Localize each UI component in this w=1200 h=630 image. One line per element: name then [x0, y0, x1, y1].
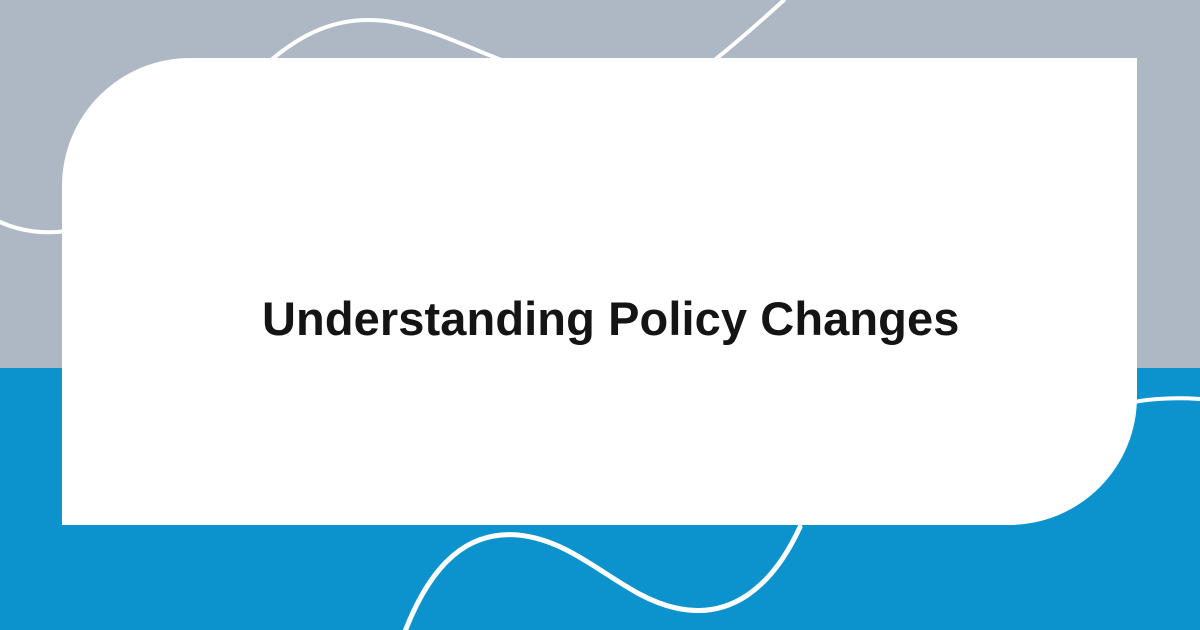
social-card-canvas: Understanding Policy Changes [0, 0, 1200, 630]
page-title: Understanding Policy Changes [262, 290, 1122, 348]
hero-title-container: Understanding Policy Changes [262, 290, 1122, 348]
